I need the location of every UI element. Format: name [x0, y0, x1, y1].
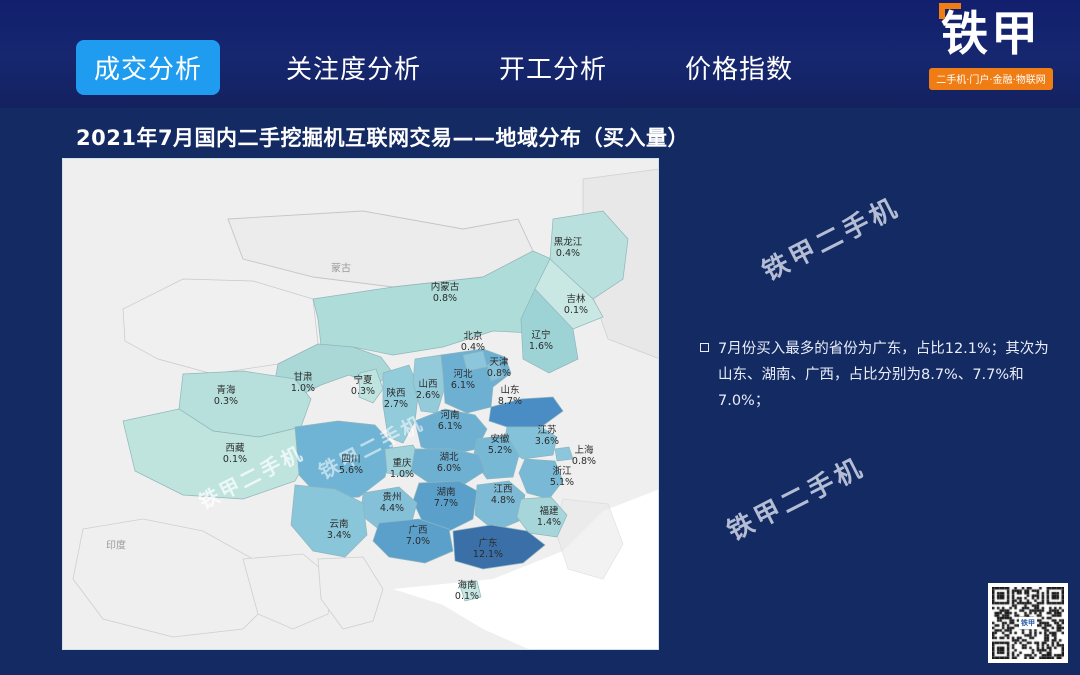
brand-logo-text: 铁甲 [941, 8, 1041, 62]
logo-corner-tick-icon [939, 3, 961, 19]
tab-price-index[interactable]: 价格指数 [667, 40, 811, 95]
qr-center-label: 铁甲 [1019, 617, 1037, 629]
tab-startup-analysis[interactable]: 开工分析 [481, 40, 625, 95]
brand-logo-subtitle: 二手机·门户·金融·物联网 [929, 68, 1053, 90]
tab-attention-analysis[interactable]: 关注度分析 [268, 40, 439, 95]
tab-transaction-analysis[interactable]: 成交分析 [76, 40, 220, 95]
top-nav-bar: 成交分析 关注度分析 开工分析 价格指数 铁甲 二手机·门户·金融·物联网 [0, 0, 1080, 108]
bullet-square-icon [700, 343, 709, 352]
brand-logo: 铁甲 二手机·门户·金融·物联网 [924, 8, 1058, 104]
slide-watermark-bottom: 铁甲二手机 [720, 447, 870, 548]
china-choropleth-map[interactable]: 铁甲二手机 铁甲二手机 黑龙江0.4%内蒙古0.8%吉林0.1%辽宁1.6%北京… [62, 158, 659, 650]
qr-code[interactable]: 铁甲 [988, 583, 1068, 663]
map-svg [63, 159, 659, 650]
insight-callout: 7月份买入最多的省份为广东，占比12.1%；其次为山东、湖南、广西，占比分别为8… [700, 336, 1052, 414]
page-title: 2021年7月国内二手挖掘机互联网交易——地域分布（买入量） [76, 122, 689, 152]
insight-text: 7月份买入最多的省份为广东，占比12.1%；其次为山东、湖南、广西，占比分别为8… [718, 336, 1052, 414]
tab-list: 成交分析 关注度分析 开工分析 价格指数 [76, 40, 811, 95]
slide-watermark-top: 铁甲二手机 [755, 187, 905, 288]
